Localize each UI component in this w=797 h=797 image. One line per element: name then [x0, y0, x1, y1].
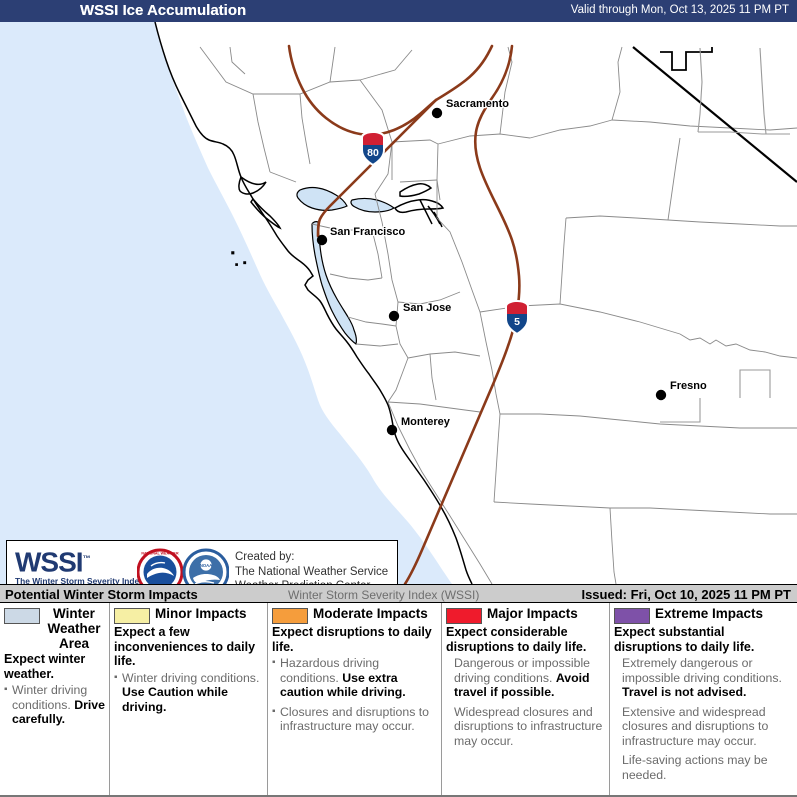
city-dot-monterey [387, 425, 397, 435]
legend-column-winter-weather-area: Winter Weather AreaExpect winter weather… [0, 603, 110, 795]
created-by-line-1: Created by: [235, 550, 388, 565]
legend-lead-text: Expect winter weather. [4, 652, 105, 681]
impacts-subheader-subtitle: Winter Storm Severity Index (WSSI) [288, 588, 479, 602]
legend-lead-text: Expect substantial disruptions to daily … [614, 625, 793, 654]
legend-column-extreme-impacts: Extreme ImpactsExpect substantial disrup… [610, 603, 797, 795]
legend-swatch [272, 608, 308, 624]
noaa-seal: NOAA [184, 550, 228, 584]
city-label-san-jose: San Jose [403, 302, 451, 314]
wssi-wordmark: WSSI™ [15, 545, 137, 576]
legend-item-emphasis: Travel is not advised. [622, 685, 746, 699]
city-dot-san-jose [389, 311, 399, 321]
map-canvas[interactable]: .cty{fill:none;stroke:#8a8a8a;stroke-wid… [0, 22, 797, 584]
svg-text:NOAA: NOAA [200, 563, 212, 568]
legend-item: Extensive and widespread closures and di… [614, 705, 793, 749]
svg-text:NATIONAL WEATHER: NATIONAL WEATHER [141, 552, 179, 556]
shield-number-80: 80 [367, 147, 379, 159]
small-island-b [244, 262, 245, 263]
city-label-fresno: Fresno [670, 380, 707, 392]
created-by-block: Created by: The National Weather Service… [235, 550, 388, 584]
wssi-logo-panel: WSSI™ The Winter Storm Severity Index [6, 540, 398, 584]
legend-item-list: Hazardous driving conditions. Use extra … [272, 656, 437, 734]
title-bar: WSSI Ice Accumulation Valid through Mon,… [0, 0, 797, 22]
legend-item-plain: Widespread closures and disruptions to i… [454, 705, 602, 748]
page-title: WSSI Ice Accumulation [80, 2, 246, 19]
legend-item: Dangerous or impossible driving conditio… [446, 656, 605, 700]
city-dot-fresno [656, 390, 666, 400]
legend-item-plain: Winter driving conditions. [122, 671, 259, 685]
legend-item-plain: Extremely dangerous or impossible drivin… [622, 656, 782, 685]
legend-lead-text: Expect considerable disruptions to daily… [446, 625, 605, 654]
city-dot-sacramento [432, 108, 442, 118]
legend-swatch [4, 608, 40, 624]
city-label-san-francisco: San Francisco [330, 226, 405, 238]
interstate-shield-5: 5 [506, 301, 528, 334]
legend-item: Life-saving actions may be needed. [614, 753, 793, 782]
legend-title: Extreme Impacts [655, 606, 763, 621]
legend-item-plain: Extensive and widespread closures and di… [622, 705, 768, 748]
national-weather-service-seal: NATIONAL WEATHER SERVICE [138, 550, 182, 584]
shield-number-5: 5 [514, 316, 520, 328]
small-island-c [236, 264, 237, 265]
agency-seals: NATIONAL WEATHER SERVICE NOAA [137, 548, 229, 584]
legend-item-list: Dangerous or impossible driving conditio… [446, 656, 605, 748]
legend-item: Hazardous driving conditions. Use extra … [272, 656, 437, 700]
city-label-monterey: Monterey [401, 416, 451, 428]
interstate-shield-80: 80 [362, 132, 384, 165]
impacts-subheader: Potential Winter Storm Impacts Winter St… [0, 584, 797, 603]
legend-title: Major Impacts [487, 606, 578, 621]
legend-item-list: Winter driving conditions. Use Caution w… [114, 671, 263, 715]
legend-swatch [614, 608, 650, 624]
legend-item-emphasis: Use Caution while driving. [122, 685, 228, 714]
impacts-legend: Winter Weather AreaExpect winter weather… [0, 603, 797, 797]
impacts-subheader-title: Potential Winter Storm Impacts [5, 587, 198, 602]
legend-column-moderate-impacts: Moderate ImpactsExpect disruptions to da… [268, 603, 442, 795]
legend-item-plain: Life-saving actions may be needed. [622, 753, 768, 782]
legend-column-minor-impacts: Minor ImpactsExpect a few inconveniences… [110, 603, 268, 795]
legend-item: Winter driving conditions. Drive careful… [4, 683, 105, 727]
legend-item-plain: Closures and disruptions to infrastructu… [280, 705, 429, 734]
created-by-line-2: The National Weather Service [235, 565, 388, 580]
legend-title: Minor Impacts [155, 606, 247, 621]
legend-lead-text: Expect disruptions to daily life. [272, 625, 437, 654]
legend-header: Winter Weather Area [4, 606, 105, 651]
legend-item: Winter driving conditions. Use Caution w… [114, 671, 263, 715]
legend-swatch [114, 608, 150, 624]
legend-title: Moderate Impacts [313, 606, 428, 621]
trademark-symbol: ™ [83, 554, 90, 563]
wssi-logo: WSSI™ The Winter Storm Severity Index [15, 545, 137, 584]
legend-header: Major Impacts [446, 606, 605, 624]
valid-through-text: Valid through Mon, Oct 13, 2025 11 PM PT [571, 4, 789, 16]
city-dot-san-francisco [317, 235, 327, 245]
legend-item: Closures and disruptions to infrastructu… [272, 705, 437, 734]
legend-item-list: Extremely dangerous or impossible drivin… [614, 656, 793, 782]
legend-header: Minor Impacts [114, 606, 263, 624]
legend-header: Extreme Impacts [614, 606, 793, 624]
legend-item: Widespread closures and disruptions to i… [446, 705, 605, 749]
legend-column-major-impacts: Major ImpactsExpect considerable disrupt… [442, 603, 610, 795]
wssi-tagline: The Winter Storm Severity Index [15, 576, 137, 584]
issued-timestamp: Issued: Fri, Oct 10, 2025 11 PM PT [581, 587, 791, 602]
legend-title: Winter Weather Area [45, 606, 103, 651]
wssi-map-page: WSSI Ice Accumulation Valid through Mon,… [0, 0, 797, 797]
legend-item-list: Winter driving conditions. Drive careful… [4, 683, 105, 727]
legend-header: Moderate Impacts [272, 606, 437, 624]
city-label-sacramento: Sacramento [446, 98, 509, 110]
legend-swatch [446, 608, 482, 624]
legend-item: Extremely dangerous or impossible drivin… [614, 656, 793, 700]
legend-lead-text: Expect a few inconveniences to daily lif… [114, 625, 263, 669]
